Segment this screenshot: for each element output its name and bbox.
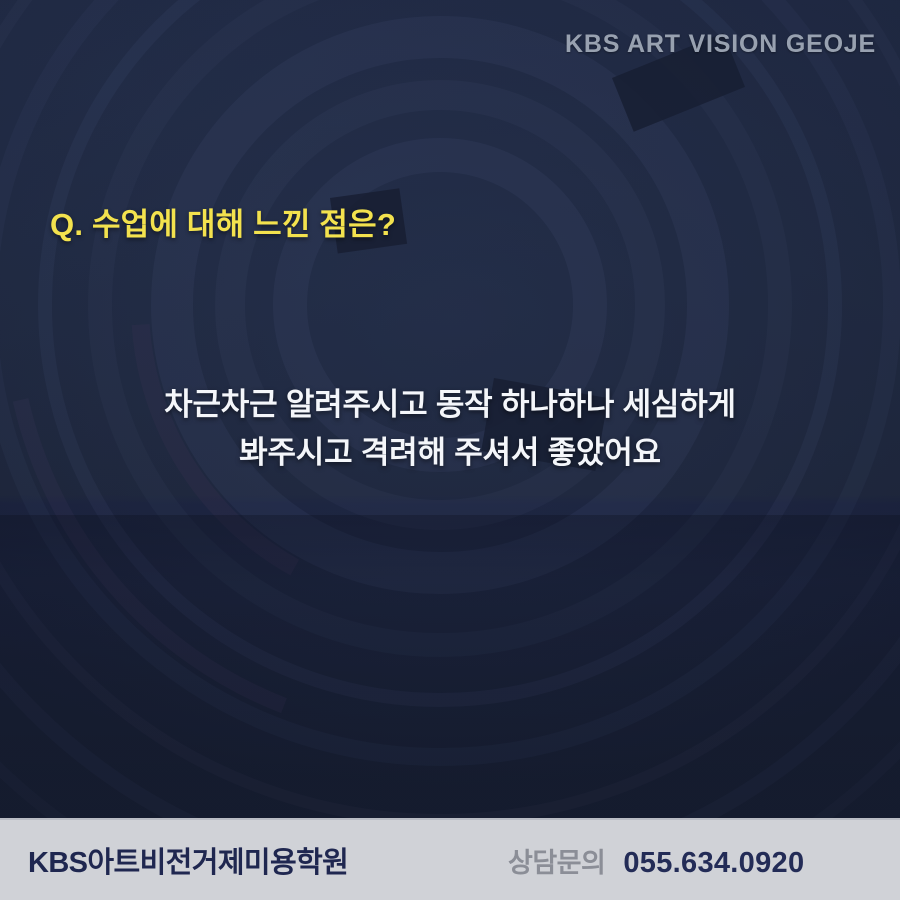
background-lower-band <box>0 515 900 820</box>
contact-label: 상담문의 <box>508 841 605 880</box>
brand-header-text: KBS ART VISION GEOJE <box>565 30 876 59</box>
question-text: Q. 수업에 대해 느낀 점은? <box>50 199 396 244</box>
footer-academy-name: KBS아트비전거제미용학원 <box>28 839 348 881</box>
footer-contact-group: 상담문의 055.634.0920 <box>508 841 804 880</box>
testimonial-slide: KBS ART VISION GEOJE Q. 수업에 대해 느낀 점은? 차근… <box>0 0 900 900</box>
contact-phone-number[interactable]: 055.634.0920 <box>623 847 804 880</box>
answer-line-2: 봐주시고 격려해 주셔서 좋았어요 <box>0 429 900 477</box>
answer-block: 차근차근 알려주시고 동작 하나하나 세심하게 봐주시고 격려해 주셔서 좋았어… <box>0 381 900 477</box>
footer-bar: KBS아트비전거제미용학원 상담문의 055.634.0920 <box>0 818 900 900</box>
answer-line-1: 차근차근 알려주시고 동작 하나하나 세심하게 <box>0 381 900 429</box>
